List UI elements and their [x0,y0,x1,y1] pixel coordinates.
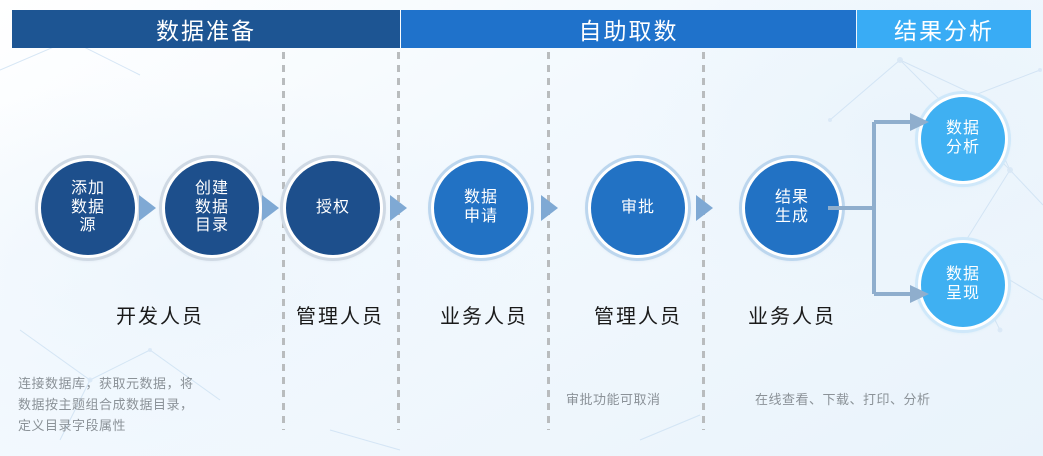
phase-band-label: 结果分析 [894,12,994,46]
lane-divider-3 [547,52,550,430]
role-label-admin-1: 管理人员 [285,300,395,329]
description-data-preparation: 连接数据库，获取元数据，将 数据按主题组合成数据目录， 定义目录字段属性 [18,352,276,436]
node-label: 添加 数据 源 [71,180,105,236]
role-label-admin-2: 管理人员 [578,300,698,329]
node-create-catalog[interactable]: 创建 数据 目录 [162,158,262,258]
phase-band-data-preparation: 数据准备 [12,10,400,48]
description-result-analysis: 在线查看、下载、打印、分析 [755,368,995,410]
role-label-developer: 开发人员 [38,300,282,329]
arrow-icon-step-3-to-4 [390,195,407,221]
phase-band-label: 自助取数 [579,12,679,46]
node-data-request[interactable]: 数据 申请 [431,158,531,258]
branch-connector-result-to-outputs [826,106,936,306]
arrow-icon-step-2-to-3 [262,195,279,221]
lane-divider-2 [397,52,400,430]
phase-band-result-analysis: 结果分析 [857,10,1031,48]
role-label-business-1: 业务人员 [424,300,544,329]
node-label: 数据 呈现 [946,266,980,303]
node-label: 创建 数据 目录 [195,180,229,236]
node-add-datasource[interactable]: 添加 数据 源 [38,158,138,258]
arrowhead-icon-to-present [910,285,929,303]
lane-divider-1 [282,52,285,430]
arrow-icon-step-4-to-5 [541,195,558,221]
arrow-icon-step-1-to-2 [139,195,156,221]
phase-band-self-service-fetch: 自助取数 [401,10,856,48]
node-label: 授权 [316,199,350,218]
description-approval: 审批功能可取消 [566,368,706,410]
node-label: 数据 分析 [946,120,980,157]
arrowhead-icon-to-analysis [910,113,929,131]
phase-band-label: 数据准备 [156,12,256,46]
role-label-business-2: 业务人员 [732,300,852,329]
node-label: 审批 [621,199,655,218]
arrow-icon-step-5-to-6 [696,195,713,221]
node-authorize[interactable]: 授权 [283,158,383,258]
node-label: 结果 生成 [775,189,809,226]
node-label: 数据 申请 [464,189,498,226]
diagram-canvas: 数据准备 自助取数 结果分析 添加 数据 源 创建 数据 目录 授权 数据 申请… [0,0,1043,456]
node-approval[interactable]: 审批 [588,158,688,258]
